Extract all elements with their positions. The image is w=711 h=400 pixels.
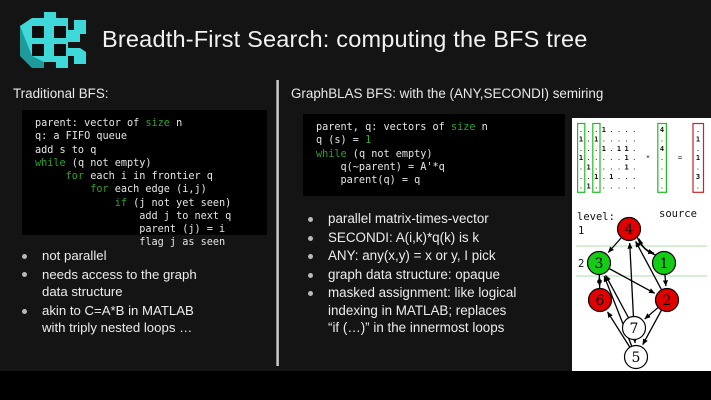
svg-text:.: . xyxy=(602,154,606,162)
svg-text:.: . xyxy=(602,164,606,172)
svg-text:1: 1 xyxy=(594,135,598,143)
svg-text:4: 4 xyxy=(660,145,664,153)
list-item: SECONDI: A(i,k)*q(k) is k xyxy=(300,229,575,247)
graphblas-code-line: parent(q) = q xyxy=(316,174,565,187)
bullet-text: indexing in MATLAB; replaces xyxy=(328,302,575,320)
svg-text:.: . xyxy=(617,182,621,190)
list-item: ANY: any(x,y) = x or y, I pick xyxy=(300,247,575,265)
svg-text:.: . xyxy=(696,164,700,172)
svg-text:.: . xyxy=(594,154,598,162)
graph-node-label: 6 xyxy=(596,293,605,309)
svg-text:.: . xyxy=(624,173,628,181)
traditional-code-line: q: a FIFO queue xyxy=(35,130,267,143)
bullet-dot-icon xyxy=(308,273,313,278)
code-token: 1 xyxy=(365,135,371,146)
code-token: for xyxy=(90,184,108,195)
svg-text:1: 1 xyxy=(602,126,606,134)
column-divider xyxy=(276,80,279,366)
code-token: while xyxy=(35,158,66,169)
svg-text:source: source xyxy=(659,208,697,220)
svg-text:.: . xyxy=(617,154,621,162)
svg-text:4: 4 xyxy=(660,126,664,134)
code-token: n xyxy=(170,118,182,129)
graph-edge xyxy=(608,238,621,253)
svg-text:.: . xyxy=(602,135,606,143)
bullet-dot-icon xyxy=(308,291,313,296)
list-item: masked assignment: like logicalindexing … xyxy=(300,284,575,337)
svg-text:.: . xyxy=(617,135,621,143)
svg-text:1: 1 xyxy=(594,173,598,181)
bullet-dot-icon xyxy=(308,254,313,259)
code-token: n xyxy=(475,122,487,133)
svg-text:.: . xyxy=(660,164,664,172)
svg-text:.: . xyxy=(609,135,613,143)
matrix-vector-figure: ...1....1.1........1.11.1.....1..1....1.… xyxy=(572,118,711,206)
svg-text:.: . xyxy=(696,145,700,153)
bullet-dot-icon xyxy=(22,272,27,277)
bullet-dot-icon xyxy=(22,309,27,314)
svg-text:.: . xyxy=(624,182,628,190)
svg-text:=: = xyxy=(678,154,682,162)
svg-text:.: . xyxy=(660,154,664,162)
traditional-code-line: while (q not empty) xyxy=(35,157,267,170)
code-token: q(~parent) = A'*q xyxy=(316,162,445,173)
graphblas-bfs-code-block: parent, q: vectors of size nq (s) = 1whi… xyxy=(303,114,565,196)
svg-text:.: . xyxy=(594,182,598,190)
svg-text:1: 1 xyxy=(586,182,590,190)
code-token: size xyxy=(145,118,170,129)
code-token: (j not yet seen) xyxy=(127,198,231,209)
svg-text:*: * xyxy=(646,154,650,162)
code-token: add s to q xyxy=(35,145,96,156)
svg-text:.: . xyxy=(609,182,613,190)
svg-text:.: . xyxy=(632,164,636,172)
graphblas-code-line: parent, q: vectors of size n xyxy=(316,121,565,134)
traditional-code-line: for each i in frontier q xyxy=(35,170,267,183)
bullet-dot-icon xyxy=(22,254,27,259)
code-token: while xyxy=(316,149,347,160)
svg-text:.: . xyxy=(586,145,590,153)
slide-canvas: Breadth-First Search: computing the BFS … xyxy=(0,0,711,371)
graphblas-code-line: while (q not empty) xyxy=(316,148,565,161)
graphblas-code-line: q(~parent) = A'*q xyxy=(316,161,565,174)
svg-text:.: . xyxy=(586,154,590,162)
traditional-code-line: add j to next q xyxy=(35,210,267,223)
graph-node-label: 7 xyxy=(630,321,639,337)
traditional-code-line: if (j not yet seen) xyxy=(35,197,267,210)
figure-panel: ...1....1.1........1.11.1.....1..1....1.… xyxy=(572,118,711,371)
svg-text:1: 1 xyxy=(578,225,584,237)
code-token: (q not empty) xyxy=(66,158,152,169)
code-token: for xyxy=(66,171,84,182)
right-column-heading: GraphBLAS BFS: with the (ANY,SECONDI) se… xyxy=(291,86,603,101)
list-item: graph data structure: opaque xyxy=(300,266,575,284)
svg-text:.: . xyxy=(579,126,583,134)
bullet-text: with triply nested loops … xyxy=(42,319,269,337)
svg-text:.: . xyxy=(696,182,700,190)
code-token: q: a FIFO queue xyxy=(35,131,127,142)
svg-text:.: . xyxy=(579,164,583,172)
svg-text:.: . xyxy=(624,126,628,134)
code-token xyxy=(35,171,66,182)
code-token: size xyxy=(451,122,476,133)
code-token: if xyxy=(115,198,127,209)
traditional-bfs-bullet-list: not parallelneeds access to the graphdat… xyxy=(14,247,269,338)
bullet-text: ANY: any(x,y) = x or y, I pick xyxy=(328,247,575,265)
svg-text:.: . xyxy=(632,126,636,134)
svg-text:1: 1 xyxy=(617,145,621,153)
code-token: parent(q) = q xyxy=(316,175,420,186)
graph-edge xyxy=(645,307,659,319)
svg-text:1: 1 xyxy=(624,145,628,153)
list-item: akin to C=A*B in MATLABwith triply neste… xyxy=(14,302,269,337)
svg-text:.: . xyxy=(660,135,664,143)
bullet-text: “if (…)” in the innermost loops xyxy=(328,319,575,337)
traditional-code-line: add s to q xyxy=(35,144,267,157)
list-item: parallel matrix-times-vector xyxy=(300,210,575,228)
bullet-text: needs access to the graph xyxy=(42,266,269,284)
code-token xyxy=(35,184,90,195)
svg-text:1: 1 xyxy=(579,154,583,162)
svg-text:2: 2 xyxy=(578,258,584,270)
svg-text:.: . xyxy=(696,126,700,134)
code-token: parent, q: vectors of xyxy=(316,122,451,133)
code-token: parent: vector of xyxy=(35,118,145,129)
code-token xyxy=(35,198,115,209)
code-token: add j to next q xyxy=(35,211,231,222)
svg-text:.: . xyxy=(617,164,621,172)
svg-text:.: . xyxy=(609,164,613,172)
graph-node-label: 5 xyxy=(632,350,641,366)
bullet-text: data structure xyxy=(42,283,269,301)
code-token: parent (j) = i xyxy=(35,224,225,235)
svg-text:.: . xyxy=(617,173,621,181)
bullet-text: masked assignment: like logical xyxy=(328,284,575,302)
svg-text:.: . xyxy=(602,173,606,181)
svg-text:level:: level: xyxy=(577,211,615,223)
svg-text:.: . xyxy=(609,154,613,162)
bfs-graph-figure: level:12source4316275 xyxy=(572,206,711,371)
svg-text:.: . xyxy=(660,173,664,181)
svg-text:.: . xyxy=(617,126,621,134)
svg-text:1: 1 xyxy=(696,135,700,143)
svg-text:1: 1 xyxy=(602,145,606,153)
graphblas-code-line: q (s) = 1 xyxy=(316,134,565,147)
svg-text:.: . xyxy=(594,126,598,134)
code-token: q (s) = xyxy=(316,135,365,146)
traditional-bfs-code-block: parent: vector of size nq: a FIFO queuea… xyxy=(22,110,267,235)
bullet-text: SECONDI: A(i,k)*q(k) is k xyxy=(328,229,575,247)
bullet-dot-icon xyxy=(308,217,313,222)
svg-text:.: . xyxy=(586,135,590,143)
bullet-dot-icon xyxy=(308,236,313,241)
svg-text:.: . xyxy=(632,145,636,153)
svg-text:.: . xyxy=(579,145,583,153)
svg-text:.: . xyxy=(632,173,636,181)
bullet-text: parallel matrix-times-vector xyxy=(328,210,575,228)
graph-node-label: 2 xyxy=(663,293,672,309)
svg-text:1: 1 xyxy=(696,154,700,162)
list-item: not parallel xyxy=(14,247,269,265)
page-title: Breadth-First Search: computing the BFS … xyxy=(102,26,702,53)
bullet-text: akin to C=A*B in MATLAB xyxy=(42,302,269,320)
traditional-code-line: for each edge (i,j) xyxy=(35,183,267,196)
svg-text:.: . xyxy=(632,154,636,162)
svg-text:.: . xyxy=(586,126,590,134)
svg-text:.: . xyxy=(609,145,613,153)
svg-text:1: 1 xyxy=(579,135,583,143)
list-item: needs access to the graphdata structure xyxy=(14,266,269,301)
svg-text:.: . xyxy=(660,182,664,190)
code-token: each i in frontier q xyxy=(84,171,213,182)
svg-text:.: . xyxy=(632,135,636,143)
graph-node-label: 4 xyxy=(625,222,634,238)
code-token: (q not empty) xyxy=(347,149,433,160)
svg-text:.: . xyxy=(602,182,606,190)
svg-text:.: . xyxy=(579,173,583,181)
bullet-text: not parallel xyxy=(42,247,269,265)
svg-text:3: 3 xyxy=(696,173,700,181)
traditional-code-line: parent: vector of size n xyxy=(35,117,267,130)
graph-node-label: 3 xyxy=(595,256,604,272)
graphblas-bfs-bullet-list: parallel matrix-times-vectorSECONDI: A(i… xyxy=(300,210,575,338)
traditional-code-line: parent (j) = i xyxy=(35,223,267,236)
svg-text:1: 1 xyxy=(609,173,613,181)
svg-text:1: 1 xyxy=(624,164,628,172)
svg-text:.: . xyxy=(594,164,598,172)
svg-text:.: . xyxy=(586,173,590,181)
svg-text:.: . xyxy=(609,126,613,134)
svg-text:.: . xyxy=(594,145,598,153)
bullet-text: graph data structure: opaque xyxy=(328,266,575,284)
svg-text:.: . xyxy=(624,135,628,143)
svg-text:1: 1 xyxy=(586,164,590,172)
svg-text:1: 1 xyxy=(624,154,628,162)
left-column-heading: Traditional BFS: xyxy=(13,86,109,101)
graphblas-puzzle-logo-icon xyxy=(14,12,88,74)
code-token: each edge (i,j) xyxy=(109,184,207,195)
svg-text:.: . xyxy=(579,182,583,190)
svg-text:.: . xyxy=(632,182,636,190)
graph-node-label: 1 xyxy=(660,256,669,272)
letterbox-bottom xyxy=(0,371,711,400)
